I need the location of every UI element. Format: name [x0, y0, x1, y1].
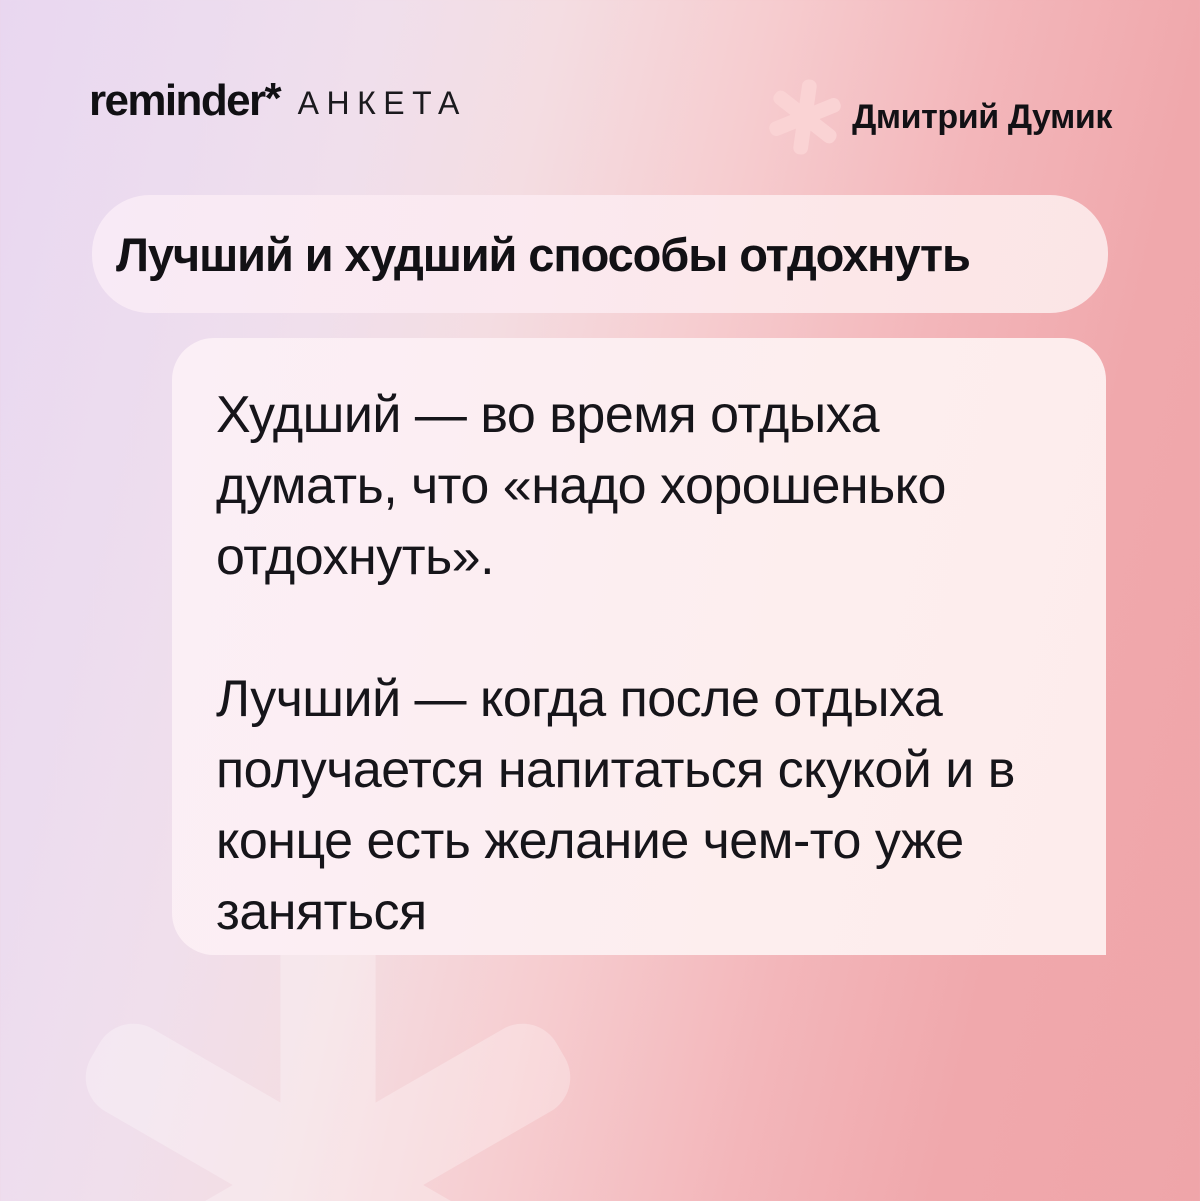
- logo-subtitle: АНКЕТА: [298, 80, 467, 126]
- page-title: Лучший и худший способы отдохнуть: [92, 227, 970, 282]
- answer-paragraph: Лучший — когда после отдыха получается н…: [216, 664, 1062, 948]
- question-title-card: Лучший и худший способы отдохнуть: [92, 195, 1108, 313]
- header: reminder * АНКЕТА Дмитрий Думик: [0, 0, 1200, 190]
- answer-paragraph: Худший — во время отдыха думать, что «на…: [216, 380, 1062, 593]
- byline: Дмитрий Думик: [764, 76, 1112, 158]
- asterisk-icon: [764, 76, 846, 158]
- answer-card: Худший — во время отдыха думать, что «на…: [172, 338, 1106, 955]
- logo-asterisk-icon: *: [265, 76, 282, 122]
- logo-wordmark: reminder: [89, 78, 265, 124]
- brand-logo[interactable]: reminder * АНКЕТА: [89, 78, 467, 124]
- guest-name: Дмитрий Думик: [852, 98, 1112, 137]
